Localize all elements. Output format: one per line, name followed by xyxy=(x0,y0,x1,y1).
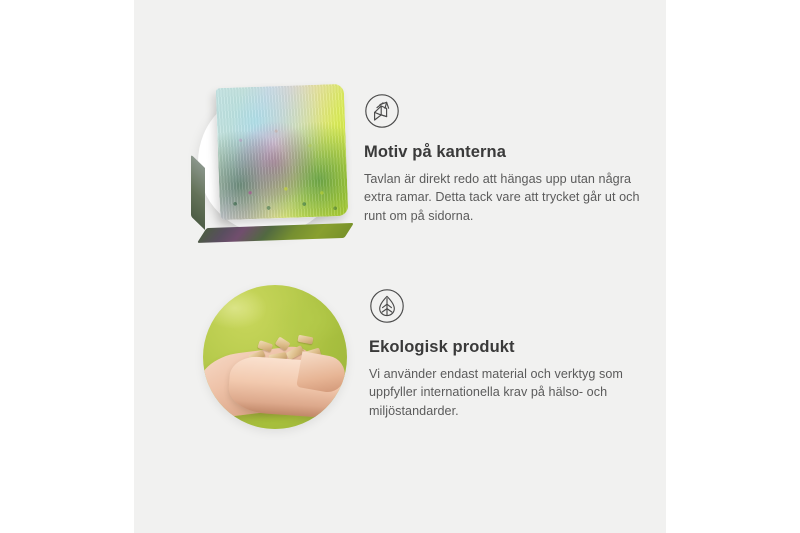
canvas-wrapped-left-edge xyxy=(191,154,205,230)
hands-with-wood-chips-photo xyxy=(203,285,347,429)
feature-text-edges: Motiv på kanterna Tavlan är direkt redo … xyxy=(364,90,654,226)
feature-block-edges: Motiv på kanterna Tavlan är direkt redo … xyxy=(198,90,654,234)
feature-title-edges: Motiv på kanterna xyxy=(364,143,654,163)
canvas-print-clip xyxy=(198,90,342,234)
leaf-icon xyxy=(369,288,405,324)
content-panel: Motiv på kanterna Tavlan är direkt redo … xyxy=(134,0,666,533)
feature-description-eco: Vi använder endast material och verktyg … xyxy=(369,365,659,421)
canvas-wrapped-bottom-edge xyxy=(197,223,354,243)
feature-description-edges: Tavlan är direkt redo att hängas upp uta… xyxy=(364,170,654,226)
page-root: Motiv på kanterna Tavlan är direkt redo … xyxy=(0,0,800,533)
eco-photo-circle xyxy=(203,285,347,429)
feature-title-eco: Ekologisk produkt xyxy=(369,338,659,358)
canvas-wrap-edge-icon xyxy=(364,93,400,129)
feature-text-eco: Ekologisk produkt Vi använder endast mat… xyxy=(369,285,659,421)
canvas-print-face xyxy=(216,84,349,220)
canvas-print-photo xyxy=(198,90,342,234)
feature-block-eco: Ekologisk produkt Vi använder endast mat… xyxy=(203,285,659,429)
canvas-texture-overlay xyxy=(216,84,349,220)
